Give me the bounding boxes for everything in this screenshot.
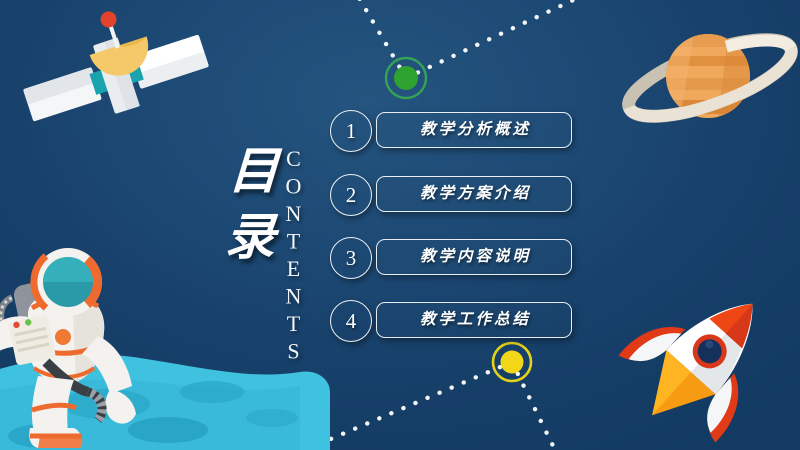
agenda-label-2: 教学方案介绍: [377, 177, 571, 210]
agenda-number-2: 2: [330, 174, 372, 216]
agenda-label-4: 教学工作总结: [377, 303, 571, 336]
title-char-2: 录: [223, 204, 278, 270]
agenda-label-1: 教学分析概述: [377, 113, 571, 146]
agenda-box-4[interactable]: 教学工作总结: [376, 302, 572, 338]
agenda-slide: 目 录 CONTENTS 1 教学分析概述 2 教学方案介绍 3 教学内容说明 …: [0, 0, 800, 450]
title-block: 目 录 CONTENTS: [222, 138, 332, 288]
agenda-box-2[interactable]: 教学方案介绍: [376, 176, 572, 212]
agenda-content: 目 录 CONTENTS 1 教学分析概述 2 教学方案介绍 3 教学内容说明 …: [0, 0, 800, 450]
page-title-cn: 目 录: [223, 138, 282, 270]
agenda-number-1: 1: [330, 110, 372, 152]
agenda-number-4: 4: [330, 300, 372, 342]
title-char-1: 目: [226, 138, 281, 204]
page-title-en: CONTENTS: [280, 146, 306, 366]
agenda-box-1[interactable]: 教学分析概述: [376, 112, 572, 148]
agenda-box-3[interactable]: 教学内容说明: [376, 239, 572, 275]
agenda-label-3: 教学内容说明: [377, 240, 571, 273]
agenda-number-3: 3: [330, 237, 372, 279]
